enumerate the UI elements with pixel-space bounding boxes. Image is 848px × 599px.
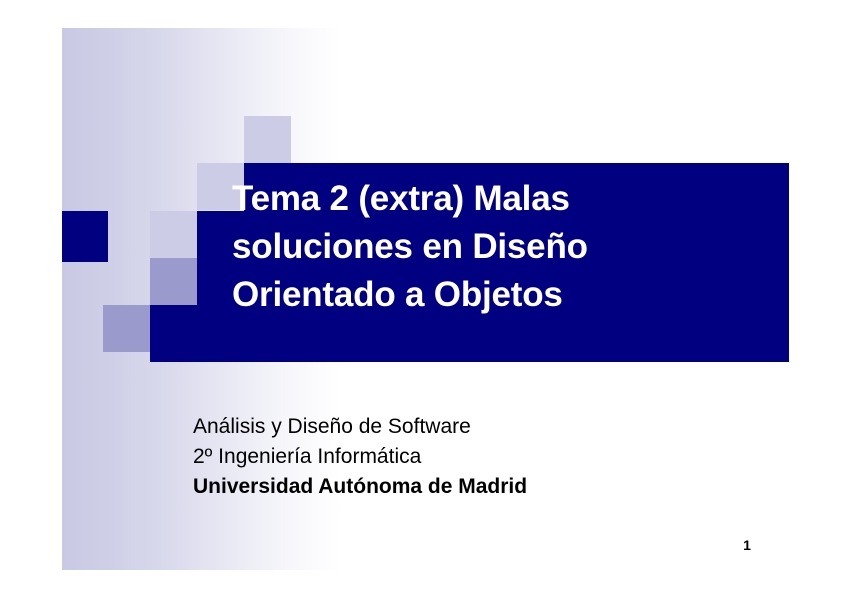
- subtitle-line-degree: 2º Ingeniería Informática: [193, 442, 527, 472]
- page-number: 1: [735, 537, 759, 553]
- slide-canvas: Tema 2 (extra) Malas soluciones en Diseñ…: [0, 0, 848, 599]
- subtitle-line-university: Universidad Autónoma de Madrid: [193, 472, 527, 502]
- decorative-square-light: [244, 116, 291, 163]
- subtitle-line-course: Análisis y Diseño de Software: [193, 412, 527, 442]
- decorative-square-medium: [150, 258, 197, 305]
- slide-subtitle: Análisis y Diseño de Software 2º Ingenie…: [193, 412, 527, 502]
- decorative-square-light: [150, 211, 197, 258]
- decorative-square-medium: [103, 305, 150, 352]
- decorative-square-navy: [62, 211, 108, 262]
- slide-title: Tema 2 (extra) Malas soluciones en Diseñ…: [232, 175, 772, 319]
